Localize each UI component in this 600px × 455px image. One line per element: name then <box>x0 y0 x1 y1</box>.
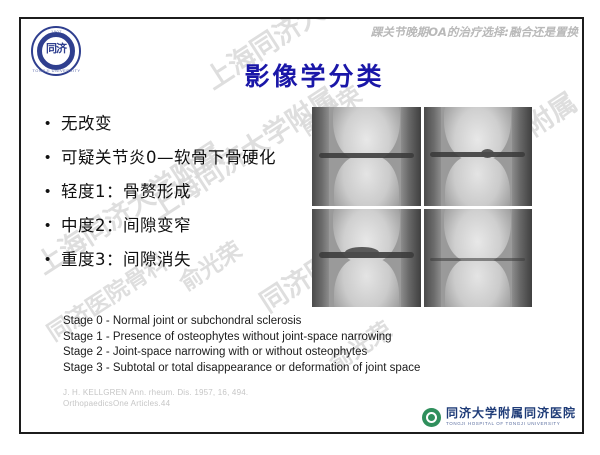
femur-shape <box>444 209 511 262</box>
bullet-list: • 无改变 • 可疑关节炎0—软骨下骨硬化 • 轻度1：骨赘形成 • 中度2：间… <box>45 109 307 279</box>
bullet-label: 重度3：间隙消失 <box>61 245 307 275</box>
hospital-logo-text: 同济大学附属同济医院 TONGJI HOSPITAL OF TONGJI UNI… <box>446 407 576 427</box>
grade-3-xray <box>424 209 533 308</box>
list-item: • 可疑关节炎0—软骨下骨硬化 <box>45 143 307 173</box>
citation-block: J. H. KELLGREN Ann. rheum. Dis. 1957, 16… <box>63 387 403 409</box>
seal-glyphs: 同济 <box>41 40 71 56</box>
joint-space-line <box>319 153 414 158</box>
bullet-marker-icon: • <box>45 211 61 241</box>
bullet-marker-icon: • <box>45 177 61 207</box>
list-item: • 重度3：间隙消失 <box>45 245 307 275</box>
slide-frame: 上海同济大学附属 同济医院骨科 上海同济大学附属 俞光荣 同济医院骨科 俞光荣 … <box>19 17 584 434</box>
list-item: • 轻度1：骨赘形成 <box>45 177 307 207</box>
slide-canvas: 上海同济大学附属 同济医院骨科 上海同济大学附属 俞光荣 同济医院骨科 俞光荣 … <box>21 19 582 432</box>
bullet-label: 可疑关节炎0—软骨下骨硬化 <box>61 143 307 173</box>
femur-shape <box>333 107 400 160</box>
bullet-label: 轻度1：骨赘形成 <box>61 177 307 207</box>
bullet-marker-icon: • <box>45 143 61 173</box>
joint-space-line <box>430 152 525 157</box>
stage-line: Stage 1 - Presence of osteophytes withou… <box>63 330 543 346</box>
page-title: 影像学分类 <box>21 57 582 93</box>
xray-image-grid <box>312 107 532 307</box>
hospital-logo: 同济大学附属同济医院 TONGJI HOSPITAL OF TONGJI UNI… <box>422 404 576 430</box>
citation-line: J. H. KELLGREN Ann. rheum. Dis. 1957, 16… <box>63 387 403 398</box>
list-item: • 无改变 <box>45 109 307 139</box>
bullet-marker-icon: • <box>45 245 61 275</box>
grade-0-xray <box>312 107 421 206</box>
tibia-shape <box>445 258 510 307</box>
running-header: 踝关节晚期OA的治疗选择:融合还是置换 <box>371 24 578 40</box>
tibia-shape <box>334 258 399 307</box>
hospital-mark-icon <box>422 408 441 427</box>
list-item: • 中度2：间隙变窄 <box>45 211 307 241</box>
bullet-marker-icon: • <box>45 109 61 139</box>
hospital-name-en: TONGJI HOSPITAL OF TONGJI UNIVERSITY <box>446 420 576 427</box>
bullet-label: 中度2：间隙变窄 <box>61 211 307 241</box>
stage-line: Stage 3 - Subtotal or total disappearanc… <box>63 361 543 377</box>
stage-line: Stage 0 - Normal joint or subchondral sc… <box>63 314 543 330</box>
tibia-shape <box>445 156 510 205</box>
citation-line: OrthopaedicsOne Articles.44 <box>63 398 403 409</box>
grade-2-xray <box>312 209 421 308</box>
stage-description-list: Stage 0 - Normal joint or subchondral sc… <box>63 314 543 376</box>
slide-root: 上海同济大学附属 同济医院骨科 上海同济大学附属 俞光荣 同济医院骨科 俞光荣 … <box>0 0 600 455</box>
hospital-name-cn: 同济大学附属同济医院 <box>446 407 576 420</box>
osteophyte-marker <box>345 247 379 258</box>
seal-top-text: 1907 <box>28 29 85 34</box>
bullet-label: 无改变 <box>61 109 307 139</box>
stage-line: Stage 2 - Joint-space narrowing with or … <box>63 345 543 361</box>
tibia-shape <box>334 156 399 205</box>
joint-space-line <box>430 258 525 261</box>
grade-1-xray <box>424 107 533 206</box>
